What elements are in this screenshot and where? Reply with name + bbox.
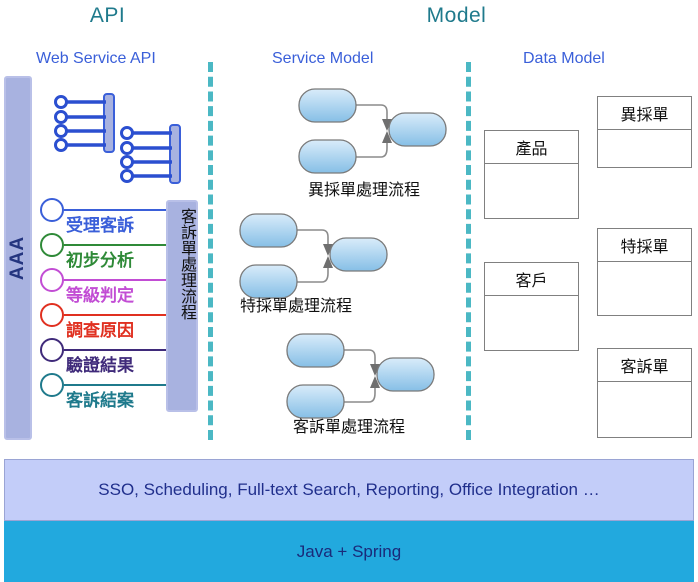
service-endpoint-circle-icon bbox=[40, 198, 64, 222]
aaa-sidebar-bar: AAA bbox=[4, 76, 32, 440]
service-flow-diagram bbox=[295, 85, 450, 185]
interface-lollipop-icon bbox=[52, 90, 122, 165]
service-label: 客訴結案 bbox=[66, 386, 134, 411]
service-flow-caption: 特採單處理流程 bbox=[240, 292, 352, 316]
entity-name: 特採單 bbox=[598, 229, 691, 262]
service-label: 驗證結果 bbox=[66, 351, 134, 376]
entity-name: 客訴單 bbox=[598, 349, 691, 382]
entity-name: 客戶 bbox=[485, 263, 578, 296]
interface-lollipop-icon bbox=[118, 121, 188, 196]
entity-name: 異採單 bbox=[598, 97, 691, 130]
entity-attributes-area bbox=[598, 262, 691, 348]
service-endpoint-circle-icon bbox=[40, 268, 64, 292]
column-title-service-model: Service Model bbox=[272, 50, 373, 68]
api-process-group-label: 客訴單處理流程 bbox=[168, 208, 196, 320]
service-endpoint-circle-icon bbox=[40, 373, 64, 397]
column-title-data-model: Data Model bbox=[523, 50, 605, 68]
service-endpoint-circle-icon bbox=[40, 233, 64, 257]
entity-attributes-area bbox=[485, 164, 578, 251]
runtime-stack-bar: Java + Spring bbox=[4, 521, 694, 582]
api-process-group-bar: 客訴單處理流程 bbox=[166, 200, 198, 412]
service-endpoint-circle-icon bbox=[40, 338, 64, 362]
service-label: 初步分析 bbox=[66, 246, 134, 271]
entity-box[interactable]: 客戶 bbox=[484, 262, 579, 351]
entity-box[interactable]: 客訴單 bbox=[597, 348, 692, 438]
group-title-api: API bbox=[0, 4, 215, 28]
aaa-label: AAA bbox=[7, 236, 29, 280]
group-title-model: Model bbox=[215, 4, 698, 28]
service-label: 受理客訴 bbox=[66, 211, 134, 236]
platform-services-bar: SSO, Scheduling, Full-text Search, Repor… bbox=[4, 459, 694, 521]
service-label: 等級判定 bbox=[66, 281, 134, 306]
column-title-web-service-api: Web Service API bbox=[36, 50, 156, 68]
service-endpoint-circle-icon bbox=[40, 303, 64, 327]
entity-box[interactable]: 特採單 bbox=[597, 228, 692, 316]
section-divider-api-service bbox=[208, 62, 213, 440]
entity-box[interactable]: 異採單 bbox=[597, 96, 692, 168]
service-label: 調查原因 bbox=[66, 316, 134, 341]
service-flow-caption: 客訴單處理流程 bbox=[293, 413, 405, 437]
entity-attributes-area bbox=[598, 130, 691, 200]
service-flow-caption: 異採單處理流程 bbox=[308, 176, 420, 200]
entity-attributes-area bbox=[598, 382, 691, 470]
entity-box[interactable]: 產品 bbox=[484, 130, 579, 219]
entity-name: 產品 bbox=[485, 131, 578, 164]
entity-attributes-area bbox=[485, 296, 578, 383]
section-divider-service-data bbox=[466, 62, 471, 440]
